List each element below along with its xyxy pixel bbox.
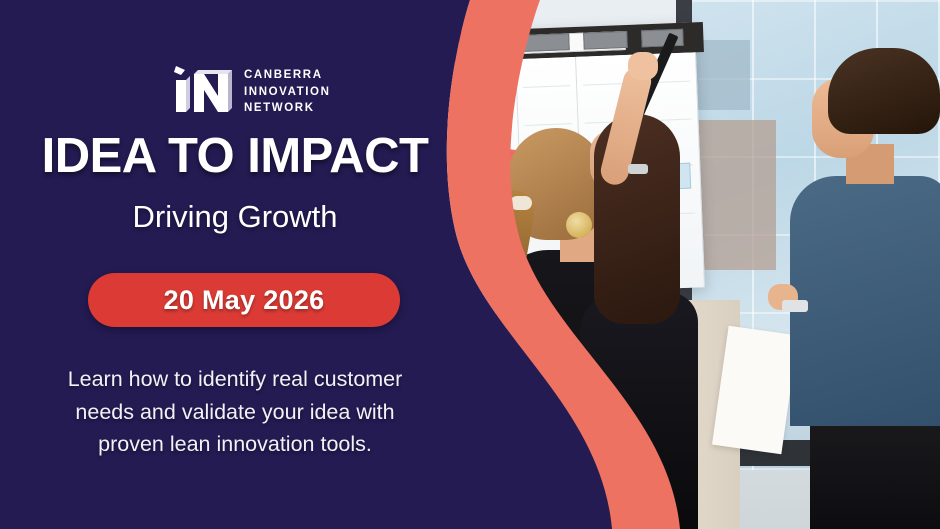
text-panel: CANBERRA INNOVATION NETWORK IDEA TO IMPA… (0, 0, 470, 529)
event-date-badge[interactable]: 20 May 2026 (88, 273, 400, 327)
description-line-3: proven lean innovation tools. (35, 428, 435, 461)
event-description: Learn how to identify real customer need… (35, 363, 435, 461)
cbrin-logo-text: CANBERRA INNOVATION NETWORK (244, 67, 331, 117)
in-monogram-icon (168, 62, 234, 122)
logo-line-3: NETWORK (244, 100, 331, 117)
event-date-text: 20 May 2026 (164, 285, 325, 316)
description-line-2: needs and validate your idea with (35, 396, 435, 429)
person-man-blue-shirt (790, 48, 940, 529)
promotional-banner: VALUEFINDER (0, 0, 940, 529)
person-woman-placing-note (572, 96, 702, 529)
description-line-1: Learn how to identify real customer (35, 363, 435, 396)
event-photo: VALUEFINDER (390, 0, 940, 529)
logo-line-2: INNOVATION (244, 84, 331, 101)
cbrin-logo: CANBERRA INNOVATION NETWORK (168, 62, 331, 122)
page-title: IDEA TO IMPACT (0, 128, 470, 184)
logo-line-1: CANBERRA (244, 67, 331, 84)
page-subtitle: Driving Growth (0, 199, 470, 235)
